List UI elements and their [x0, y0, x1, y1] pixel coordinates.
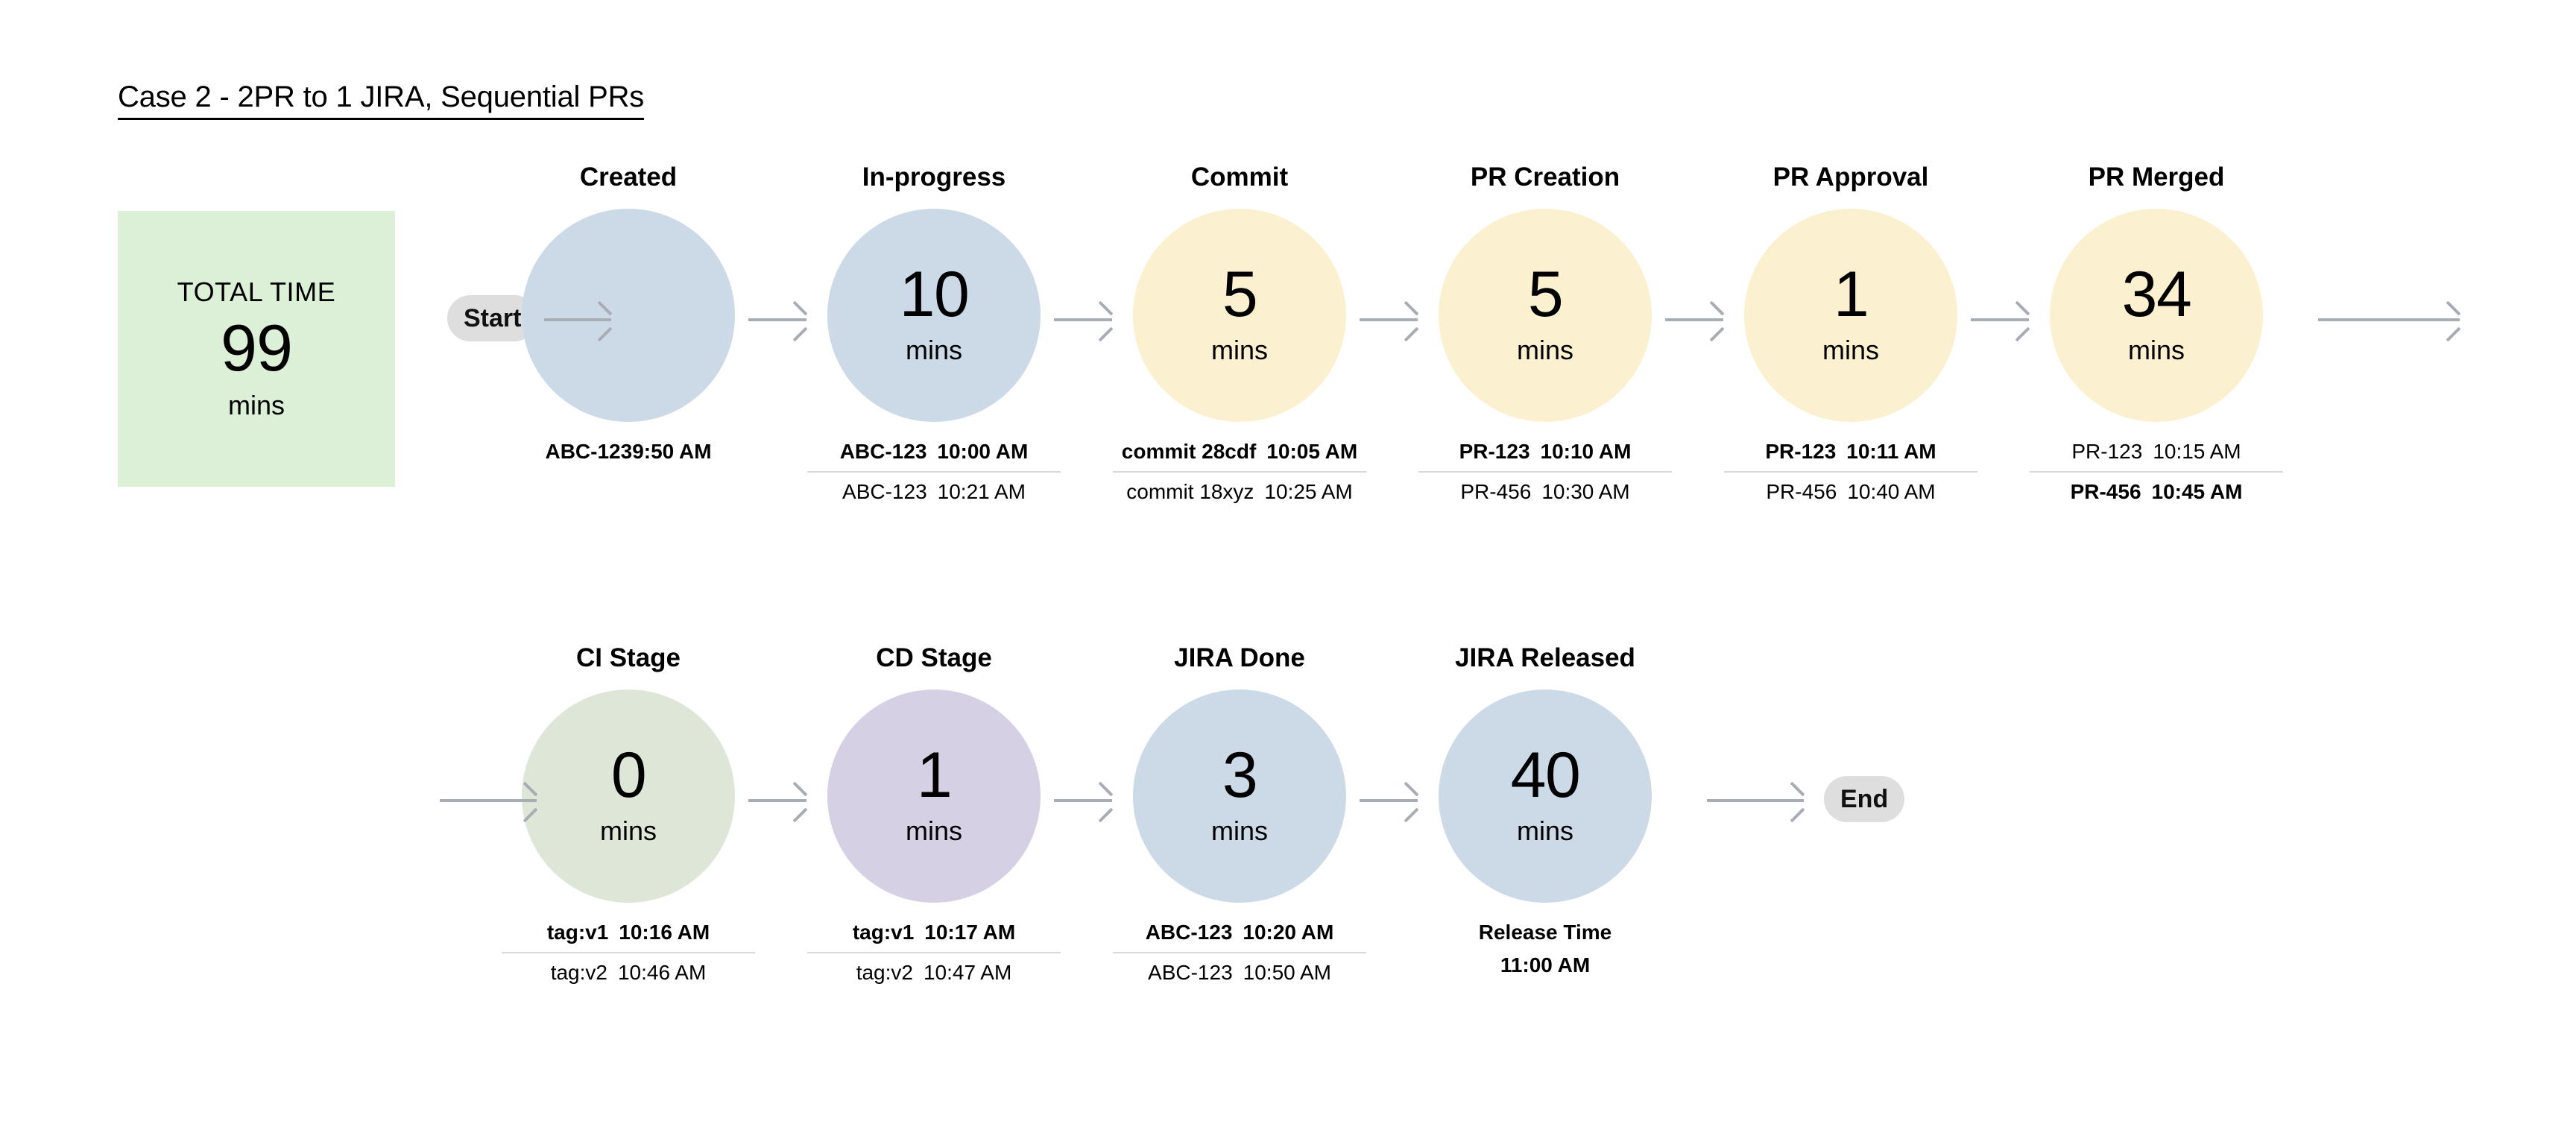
caption-line: PR-12310:10 AM: [1418, 435, 1672, 468]
caption-time: 9:50 AM: [632, 440, 711, 463]
caption-ref: ABC-123: [545, 440, 632, 463]
caption-time: 10:11 AM: [1846, 435, 1936, 468]
page-title: Case 2 - 2PR to 1 JIRA, Sequential PRs: [118, 81, 644, 120]
caption-ref: tag:v2: [551, 956, 607, 989]
node-duration-value: 40: [1511, 745, 1580, 807]
node-title: PR Approval: [1744, 164, 1957, 195]
caption-line: 11:00 AM: [1418, 949, 1672, 982]
caption-ref: 11:00 AM: [1500, 953, 1590, 976]
node-title: CD Stage: [827, 645, 1041, 676]
caption-ref: ABC-123: [1148, 956, 1233, 989]
caption-time: 10:20 AM: [1243, 916, 1333, 949]
node-caption: PR-12310:15 AMPR-45610:45 AM: [2030, 435, 2283, 508]
caption-divider: [1418, 471, 1672, 473]
connector-0-4: [1971, 318, 2029, 321]
caption-line: Release Time: [1418, 916, 1672, 949]
connector-0-lead: [544, 318, 611, 321]
caption-ref: ABC-123: [1146, 916, 1233, 949]
caption-time: 10:40 AM: [1847, 476, 1935, 508]
connector-1-1: [1054, 799, 1112, 802]
flow-node-cd-stage[interactable]: CD Stage1minstag:v110:17 AMtag:v210:47 A…: [827, 645, 1041, 989]
caption-time: 10:30 AM: [1541, 476, 1629, 508]
node-caption: tag:v110:16 AMtag:v210:46 AM: [502, 916, 755, 989]
node-bubble[interactable]: 5mins: [1133, 209, 1346, 422]
node-duration-value: 10: [900, 265, 969, 326]
node-caption: PR-12310:10 AMPR-45610:30 AM: [1418, 435, 1672, 508]
caption-divider: [1113, 471, 1366, 473]
node-title: In-progress: [827, 164, 1041, 195]
caption-line: commit 28cdf10:05 AM: [1113, 435, 1366, 468]
flow-node-jira-released[interactable]: JIRA Released40minsRelease Time11:00 AM: [1439, 645, 1652, 982]
caption-ref: commit 18xyz: [1126, 476, 1254, 508]
node-bubble[interactable]: 40mins: [1439, 690, 1652, 903]
node-caption: Release Time11:00 AM: [1418, 916, 1672, 982]
caption-ref: PR-123: [2071, 435, 2142, 468]
caption-ref: ABC-123: [840, 435, 927, 468]
node-caption: ABC-1239:50 AM: [502, 435, 755, 501]
flow-node-pr-creation[interactable]: PR Creation5minsPR-12310:10 AMPR-45610:3…: [1439, 164, 1652, 508]
caption-ref: PR-123: [1765, 435, 1836, 468]
connector-1-0: [748, 799, 806, 802]
caption-time: 10:16 AM: [619, 916, 710, 949]
caption-divider: [807, 952, 1061, 953]
caption-ref: commit 28cdf: [1122, 435, 1257, 468]
caption-line: ABC-12310:20 AM: [1113, 916, 1366, 949]
caption-line: tag:v110:16 AM: [502, 916, 755, 949]
caption-ref: tag:v1: [853, 916, 914, 949]
connector-0-trail: [2318, 318, 2460, 321]
node-bubble[interactable]: 0mins: [522, 690, 735, 903]
connector-1-to-end: [1707, 799, 1804, 802]
caption-time: 10:47 AM: [924, 956, 1011, 989]
caption-divider: [1724, 471, 1977, 473]
node-bubble[interactable]: [522, 209, 735, 422]
caption-time: 10:46 AM: [618, 956, 706, 989]
flow-node-jira-done[interactable]: JIRA Done3minsABC-12310:20 AMABC-12310:5…: [1133, 645, 1346, 989]
caption-divider: [502, 952, 755, 953]
node-title: PR Merged: [2050, 164, 2263, 195]
node-bubble[interactable]: 5mins: [1439, 209, 1652, 422]
node-title: JIRA Done: [1133, 645, 1346, 676]
node-duration-value: 1: [1834, 265, 1868, 326]
caption-line: PR-45610:40 AM: [1724, 476, 1977, 508]
caption-time: 10:25 AM: [1264, 476, 1352, 508]
node-caption: ABC-12310:20 AMABC-12310:50 AM: [1113, 916, 1366, 989]
caption-line: PR-45610:30 AM: [1418, 476, 1672, 508]
node-title: Created: [522, 164, 735, 195]
flow-node-ci-stage[interactable]: CI Stage0minstag:v110:16 AMtag:v210:46 A…: [522, 645, 735, 989]
node-duration-value: 34: [2122, 265, 2191, 326]
node-duration-unit: mins: [1211, 815, 1268, 847]
flow-node-commit[interactable]: Commit5minscommit 28cdf10:05 AMcommit 18…: [1133, 164, 1346, 508]
node-caption: commit 28cdf10:05 AMcommit 18xyz10:25 AM: [1113, 435, 1366, 508]
connector-1-lead: [440, 799, 537, 802]
node-duration-unit: mins: [906, 335, 962, 366]
node-caption: PR-12310:11 AMPR-45610:40 AM: [1724, 435, 1977, 508]
node-caption: ABC-12310:00 AMABC-12310:21 AM: [807, 435, 1061, 508]
node-duration-value: 5: [1528, 265, 1562, 326]
node-duration-value: 5: [1222, 265, 1257, 326]
node-duration-value: 3: [1222, 745, 1257, 807]
caption-time: 10:17 AM: [924, 916, 1015, 949]
node-duration-unit: mins: [1822, 335, 1879, 366]
node-duration-unit: mins: [600, 815, 657, 847]
caption-time: 10:50 AM: [1243, 956, 1331, 989]
flow-node-pr-merged[interactable]: PR Merged34minsPR-12310:15 AMPR-45610:45…: [2050, 164, 2263, 508]
node-bubble[interactable]: 3mins: [1133, 690, 1346, 903]
caption-time: 10:15 AM: [2153, 435, 2241, 468]
node-title: PR Creation: [1439, 164, 1652, 195]
caption-ref: tag:v2: [856, 956, 913, 989]
flow-node-in-progress[interactable]: In-progress10minsABC-12310:00 AMABC-1231…: [827, 164, 1041, 508]
node-caption: tag:v110:17 AMtag:v210:47 AM: [807, 916, 1061, 989]
caption-line: ABC-12310:21 AM: [807, 476, 1061, 508]
node-title: JIRA Released: [1439, 645, 1652, 676]
caption-ref: PR-456: [1766, 476, 1837, 508]
caption-line: PR-45610:45 AM: [2030, 476, 2283, 508]
caption-ref: tag:v1: [547, 916, 608, 949]
caption-time: 10:45 AM: [2152, 476, 2243, 508]
node-duration-unit: mins: [1517, 815, 1573, 847]
caption-time: 10:10 AM: [1541, 435, 1632, 468]
node-bubble[interactable]: 10mins: [827, 209, 1041, 422]
caption-spacer: [502, 468, 755, 501]
connector-0-0: [748, 318, 806, 321]
caption-divider: [1113, 952, 1366, 953]
node-title: Commit: [1133, 164, 1346, 195]
caption-line: ABC-12310:00 AM: [807, 435, 1061, 468]
caption-line: tag:v210:47 AM: [807, 956, 1061, 989]
caption-divider: [807, 471, 1061, 473]
flow-node-pr-approval[interactable]: PR Approval1minsPR-12310:11 AMPR-45610:4…: [1744, 164, 1957, 508]
caption-line: ABC-1239:50 AM: [502, 435, 755, 468]
caption-ref: Release Time: [1479, 921, 1612, 944]
caption-line: PR-12310:11 AM: [1724, 435, 1977, 468]
node-duration-unit: mins: [1211, 335, 1268, 366]
connector-1-2: [1360, 799, 1418, 802]
node-bubble[interactable]: 34mins: [2050, 209, 2263, 422]
connector-0-2: [1360, 318, 1418, 321]
caption-time: 10:05 AM: [1266, 435, 1357, 468]
caption-time: 10:00 AM: [937, 435, 1028, 468]
caption-ref: PR-123: [1459, 435, 1530, 468]
caption-line: ABC-12310:50 AM: [1113, 956, 1366, 989]
node-duration-unit: mins: [906, 815, 962, 847]
flow-node-created[interactable]: CreatedABC-1239:50 AM: [522, 164, 735, 501]
caption-line: tag:v110:17 AM: [807, 916, 1061, 949]
node-duration-value: 0: [611, 745, 645, 807]
node-title: CI Stage: [522, 645, 735, 676]
connector-0-3: [1665, 318, 1723, 321]
node-bubble[interactable]: 1mins: [1744, 209, 1957, 422]
caption-divider: [2030, 471, 2283, 473]
caption-time: 10:21 AM: [938, 476, 1026, 508]
node-duration-unit: mins: [1517, 335, 1573, 366]
caption-line: commit 18xyz10:25 AM: [1113, 476, 1366, 508]
caption-ref: PR-456: [1460, 476, 1531, 508]
connector-0-1: [1054, 318, 1112, 321]
caption-line: PR-12310:15 AM: [2030, 435, 2283, 468]
node-bubble[interactable]: 1mins: [827, 690, 1041, 903]
flow-row-secondary: CI Stage0minstag:v110:16 AMtag:v210:46 A…: [0, 645, 2576, 1062]
caption-ref: ABC-123: [842, 476, 927, 508]
node-duration-unit: mins: [2128, 335, 2185, 366]
flow-row-primary: CreatedABC-1239:50 AM In-progress10minsA…: [0, 164, 2576, 581]
caption-ref: PR-456: [2071, 476, 2141, 508]
caption-line: tag:v210:46 AM: [502, 956, 755, 989]
node-duration-value: 1: [917, 745, 951, 807]
